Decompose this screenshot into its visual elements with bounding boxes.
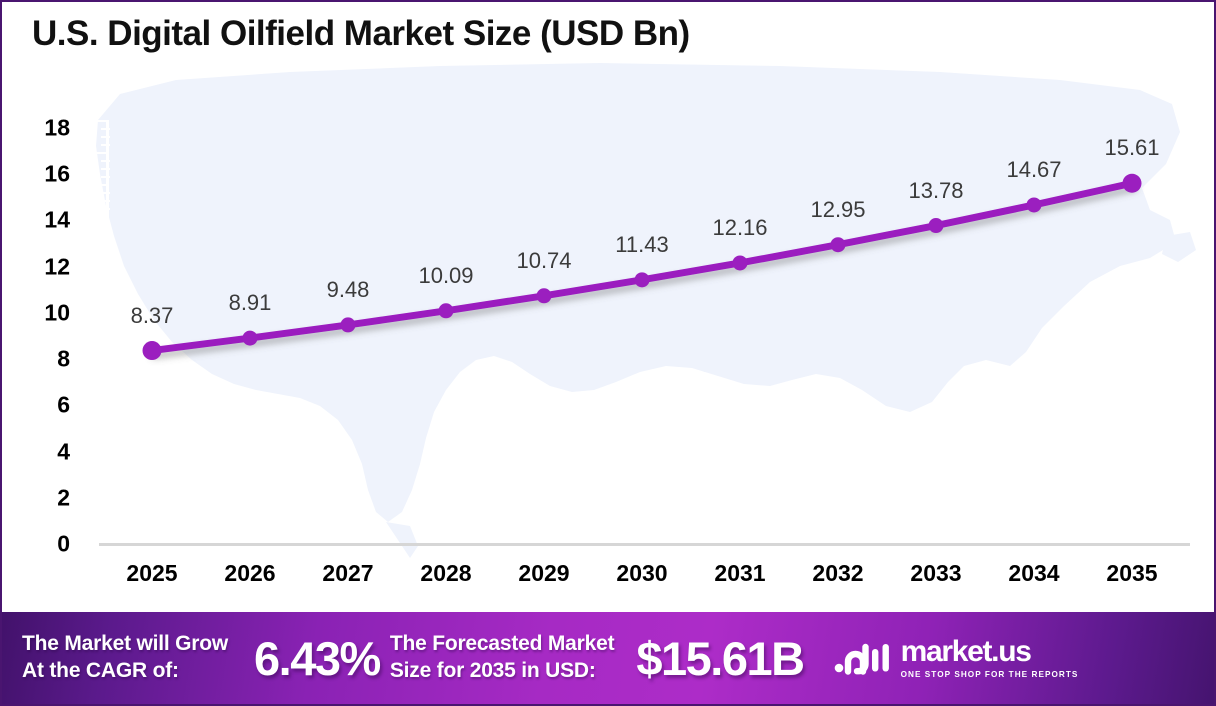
data-point-marker	[243, 331, 258, 346]
y-axis-tick	[101, 272, 110, 274]
infographic-root: U.S. Digital Oilfield Market Size (USD B…	[0, 0, 1216, 706]
y-axis-tick	[96, 280, 109, 282]
data-point-marker	[143, 341, 162, 360]
y-axis-label: 16	[10, 161, 70, 188]
x-axis-label: 2034	[979, 560, 1089, 587]
y-axis-tick	[101, 296, 110, 298]
data-point-marker	[929, 218, 944, 233]
forecast-caption-line1: The Forecasted Market	[390, 631, 615, 658]
y-axis-tick	[101, 136, 110, 138]
cagr-caption-line1: The Market will Grow	[22, 631, 228, 658]
brand-tagline: ONE STOP SHOP FOR THE REPORTS	[901, 670, 1079, 679]
y-axis-tick	[101, 128, 110, 130]
x-axis-label: 2035	[1077, 560, 1187, 587]
forecast-caption-line2: Size for 2035 in USD:	[390, 658, 615, 685]
x-axis-label: 2031	[685, 560, 795, 587]
forecast-caption: The Forecasted Market Size for 2035 in U…	[390, 631, 615, 685]
data-point-label: 12.16	[685, 215, 795, 241]
y-axis-tick	[101, 232, 110, 234]
x-axis-label: 2025	[97, 560, 207, 587]
y-axis-tick	[101, 224, 110, 226]
data-point-label: 15.61	[1077, 135, 1187, 161]
y-axis-tick	[96, 120, 109, 122]
data-point-marker	[537, 288, 552, 303]
plot-area: 024681012141618 202520262027202820292030…	[2, 2, 1216, 612]
y-axis-label: 6	[10, 392, 70, 419]
market-us-logo-icon	[834, 637, 892, 679]
y-axis-tick	[96, 216, 109, 218]
y-axis-tick	[101, 256, 110, 258]
data-point-marker	[831, 237, 846, 252]
data-point-label: 10.74	[489, 248, 599, 274]
x-axis-label: 2027	[293, 560, 403, 587]
y-axis-label: 0	[10, 531, 70, 558]
data-point-label: 13.78	[881, 178, 991, 204]
y-axis-ruler	[96, 120, 110, 312]
y-axis-tick	[101, 176, 110, 178]
cagr-caption: The Market will Grow At the CAGR of:	[22, 631, 228, 685]
page-title: U.S. Digital Oilfield Market Size (USD B…	[32, 14, 690, 54]
x-axis-label: 2030	[587, 560, 697, 587]
y-axis-label: 10	[10, 299, 70, 326]
brand-logo[interactable]: market.us ONE STOP SHOP FOR THE REPORTS	[834, 637, 1079, 679]
y-axis-tick	[101, 200, 110, 202]
cagr-value: 6.43%	[254, 631, 380, 686]
y-axis-tick	[96, 184, 109, 186]
x-axis-baseline	[99, 543, 1190, 546]
data-point-marker	[1123, 174, 1142, 193]
x-axis-label: 2026	[195, 560, 305, 587]
y-axis-label: 12	[10, 253, 70, 280]
series-markers	[143, 174, 1142, 360]
x-axis-label: 2029	[489, 560, 599, 587]
y-axis-tick	[101, 144, 110, 146]
y-axis-tick	[101, 192, 110, 194]
data-point-label: 12.95	[783, 197, 893, 223]
footer-banner: The Market will Grow At the CAGR of: 6.4…	[2, 612, 1214, 704]
x-axis-label: 2032	[783, 560, 893, 587]
x-axis-label: 2033	[881, 560, 991, 587]
data-point-label: 8.91	[195, 290, 305, 316]
data-point-label: 10.09	[391, 263, 501, 289]
y-axis-label: 8	[10, 346, 70, 373]
forecast-value: $15.61B	[636, 631, 803, 686]
y-axis-tick	[101, 288, 110, 290]
cagr-caption-line2: At the CAGR of:	[22, 658, 228, 685]
data-point-label: 8.37	[97, 303, 207, 329]
data-point-marker	[439, 303, 454, 318]
y-axis-tick	[101, 240, 110, 242]
series-line	[152, 183, 1132, 350]
y-axis-label: 14	[10, 207, 70, 234]
series-polyline	[152, 183, 1132, 350]
data-point-marker	[1027, 197, 1042, 212]
y-axis-label: 18	[10, 115, 70, 142]
y-axis-tick	[96, 248, 109, 250]
brand-name: market.us	[901, 637, 1079, 667]
data-point-label: 14.67	[979, 157, 1089, 183]
data-point-marker	[635, 272, 650, 287]
brand-text: market.us ONE STOP SHOP FOR THE REPORTS	[901, 637, 1079, 679]
y-axis-tick	[101, 208, 110, 210]
data-point-marker	[341, 317, 356, 332]
y-axis-label: 4	[10, 438, 70, 465]
y-axis-tick	[101, 168, 110, 170]
y-axis-tick	[101, 160, 110, 162]
data-point-label: 9.48	[293, 277, 403, 303]
y-axis-tick	[101, 264, 110, 266]
y-axis-label: 2	[10, 484, 70, 511]
data-point-marker	[733, 255, 748, 270]
data-point-label: 11.43	[587, 232, 697, 258]
x-axis-label: 2028	[391, 560, 501, 587]
y-axis-tick	[96, 152, 109, 154]
